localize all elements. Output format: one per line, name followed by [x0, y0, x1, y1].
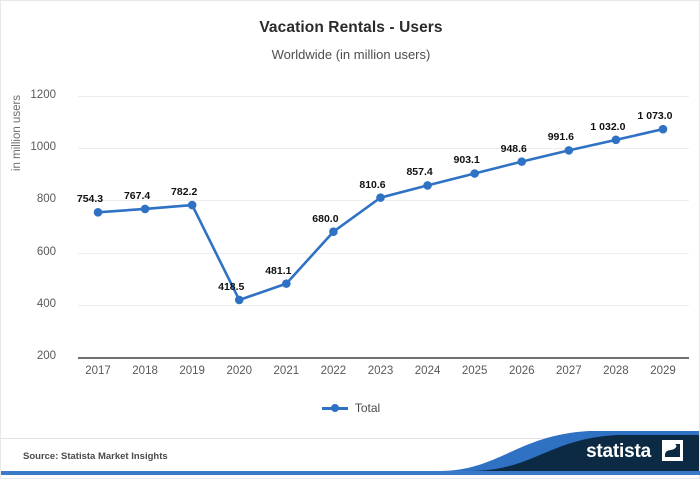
data-point-marker[interactable] — [376, 193, 385, 202]
x-tick-2020: 2020 — [226, 365, 252, 377]
y-tick-1200: 1200 — [0, 89, 56, 101]
data-point-marker[interactable] — [517, 157, 526, 166]
x-tick-2029: 2029 — [650, 365, 676, 377]
data-label-2017: 754.3 — [77, 193, 103, 205]
data-point-marker[interactable] — [565, 146, 574, 155]
x-tick-2022: 2022 — [321, 365, 347, 377]
data-point-marker[interactable] — [659, 125, 668, 134]
bottom-accent-rule — [1, 471, 700, 475]
chart-legend: Total — [1, 401, 700, 415]
data-label-2020: 418.5 — [218, 281, 244, 293]
data-point-marker[interactable] — [235, 296, 244, 305]
x-tick-2019: 2019 — [179, 365, 205, 377]
data-point-marker[interactable] — [94, 208, 103, 217]
x-tick-2021: 2021 — [274, 365, 300, 377]
gridline-200 — [78, 357, 689, 359]
data-label-2018: 767.4 — [124, 190, 150, 202]
source-note: Source: Statista Market Insights — [23, 451, 168, 462]
x-tick-2018: 2018 — [132, 365, 158, 377]
data-label-2028: 1 032.0 — [590, 121, 625, 133]
data-label-2025: 903.1 — [454, 154, 480, 166]
x-tick-2024: 2024 — [415, 365, 441, 377]
logo-wave-shape — [439, 429, 699, 471]
x-tick-2027: 2027 — [556, 365, 582, 377]
x-tick-2023: 2023 — [368, 365, 394, 377]
data-point-marker[interactable] — [188, 201, 197, 210]
x-tick-2028: 2028 — [603, 365, 629, 377]
data-label-2024: 857.4 — [406, 166, 432, 178]
y-tick-800: 800 — [0, 193, 56, 205]
x-tick-2017: 2017 — [85, 365, 111, 377]
data-label-2026: 948.6 — [501, 143, 527, 155]
data-point-marker[interactable] — [612, 136, 621, 145]
data-point-marker[interactable] — [329, 227, 338, 236]
data-label-2019: 782.2 — [171, 186, 197, 198]
chart-card: Vacation Rentals - Users Worldwide (in m… — [0, 0, 700, 479]
data-point-marker[interactable] — [423, 181, 432, 190]
chart-subtitle: Worldwide (in million users) — [1, 47, 700, 62]
data-label-2023: 810.6 — [359, 179, 385, 191]
statista-s-mark-icon — [662, 440, 683, 461]
series-line-total — [78, 96, 689, 357]
x-tick-2026: 2026 — [509, 365, 535, 377]
data-label-2022: 680.0 — [312, 213, 338, 225]
y-tick-200: 200 — [0, 350, 56, 362]
logo-wordmark: statista — [586, 441, 651, 463]
y-tick-400: 400 — [0, 298, 56, 310]
data-label-2021: 481.1 — [265, 265, 291, 277]
y-tick-1000: 1000 — [0, 141, 56, 153]
y-tick-600: 600 — [0, 246, 56, 258]
x-axis-tick-labels: 2017201820192020202120222023202420252026… — [78, 365, 689, 385]
plot-area: 12001000800600400200 754.3767.4782.2418.… — [78, 96, 689, 357]
data-point-marker[interactable] — [470, 169, 479, 178]
chart-title: Vacation Rentals - Users — [1, 19, 700, 37]
y-axis-title: in million users — [11, 95, 23, 171]
statista-logo: statista — [439, 429, 699, 471]
series-path-total — [98, 129, 663, 300]
data-label-2027: 991.6 — [548, 131, 574, 143]
legend-marker-icon — [322, 403, 348, 413]
data-point-marker[interactable] — [141, 205, 150, 214]
x-tick-2025: 2025 — [462, 365, 488, 377]
data-label-2029: 1 073.0 — [637, 110, 672, 122]
legend-item-total: Total — [355, 401, 380, 415]
data-point-marker[interactable] — [282, 279, 291, 288]
